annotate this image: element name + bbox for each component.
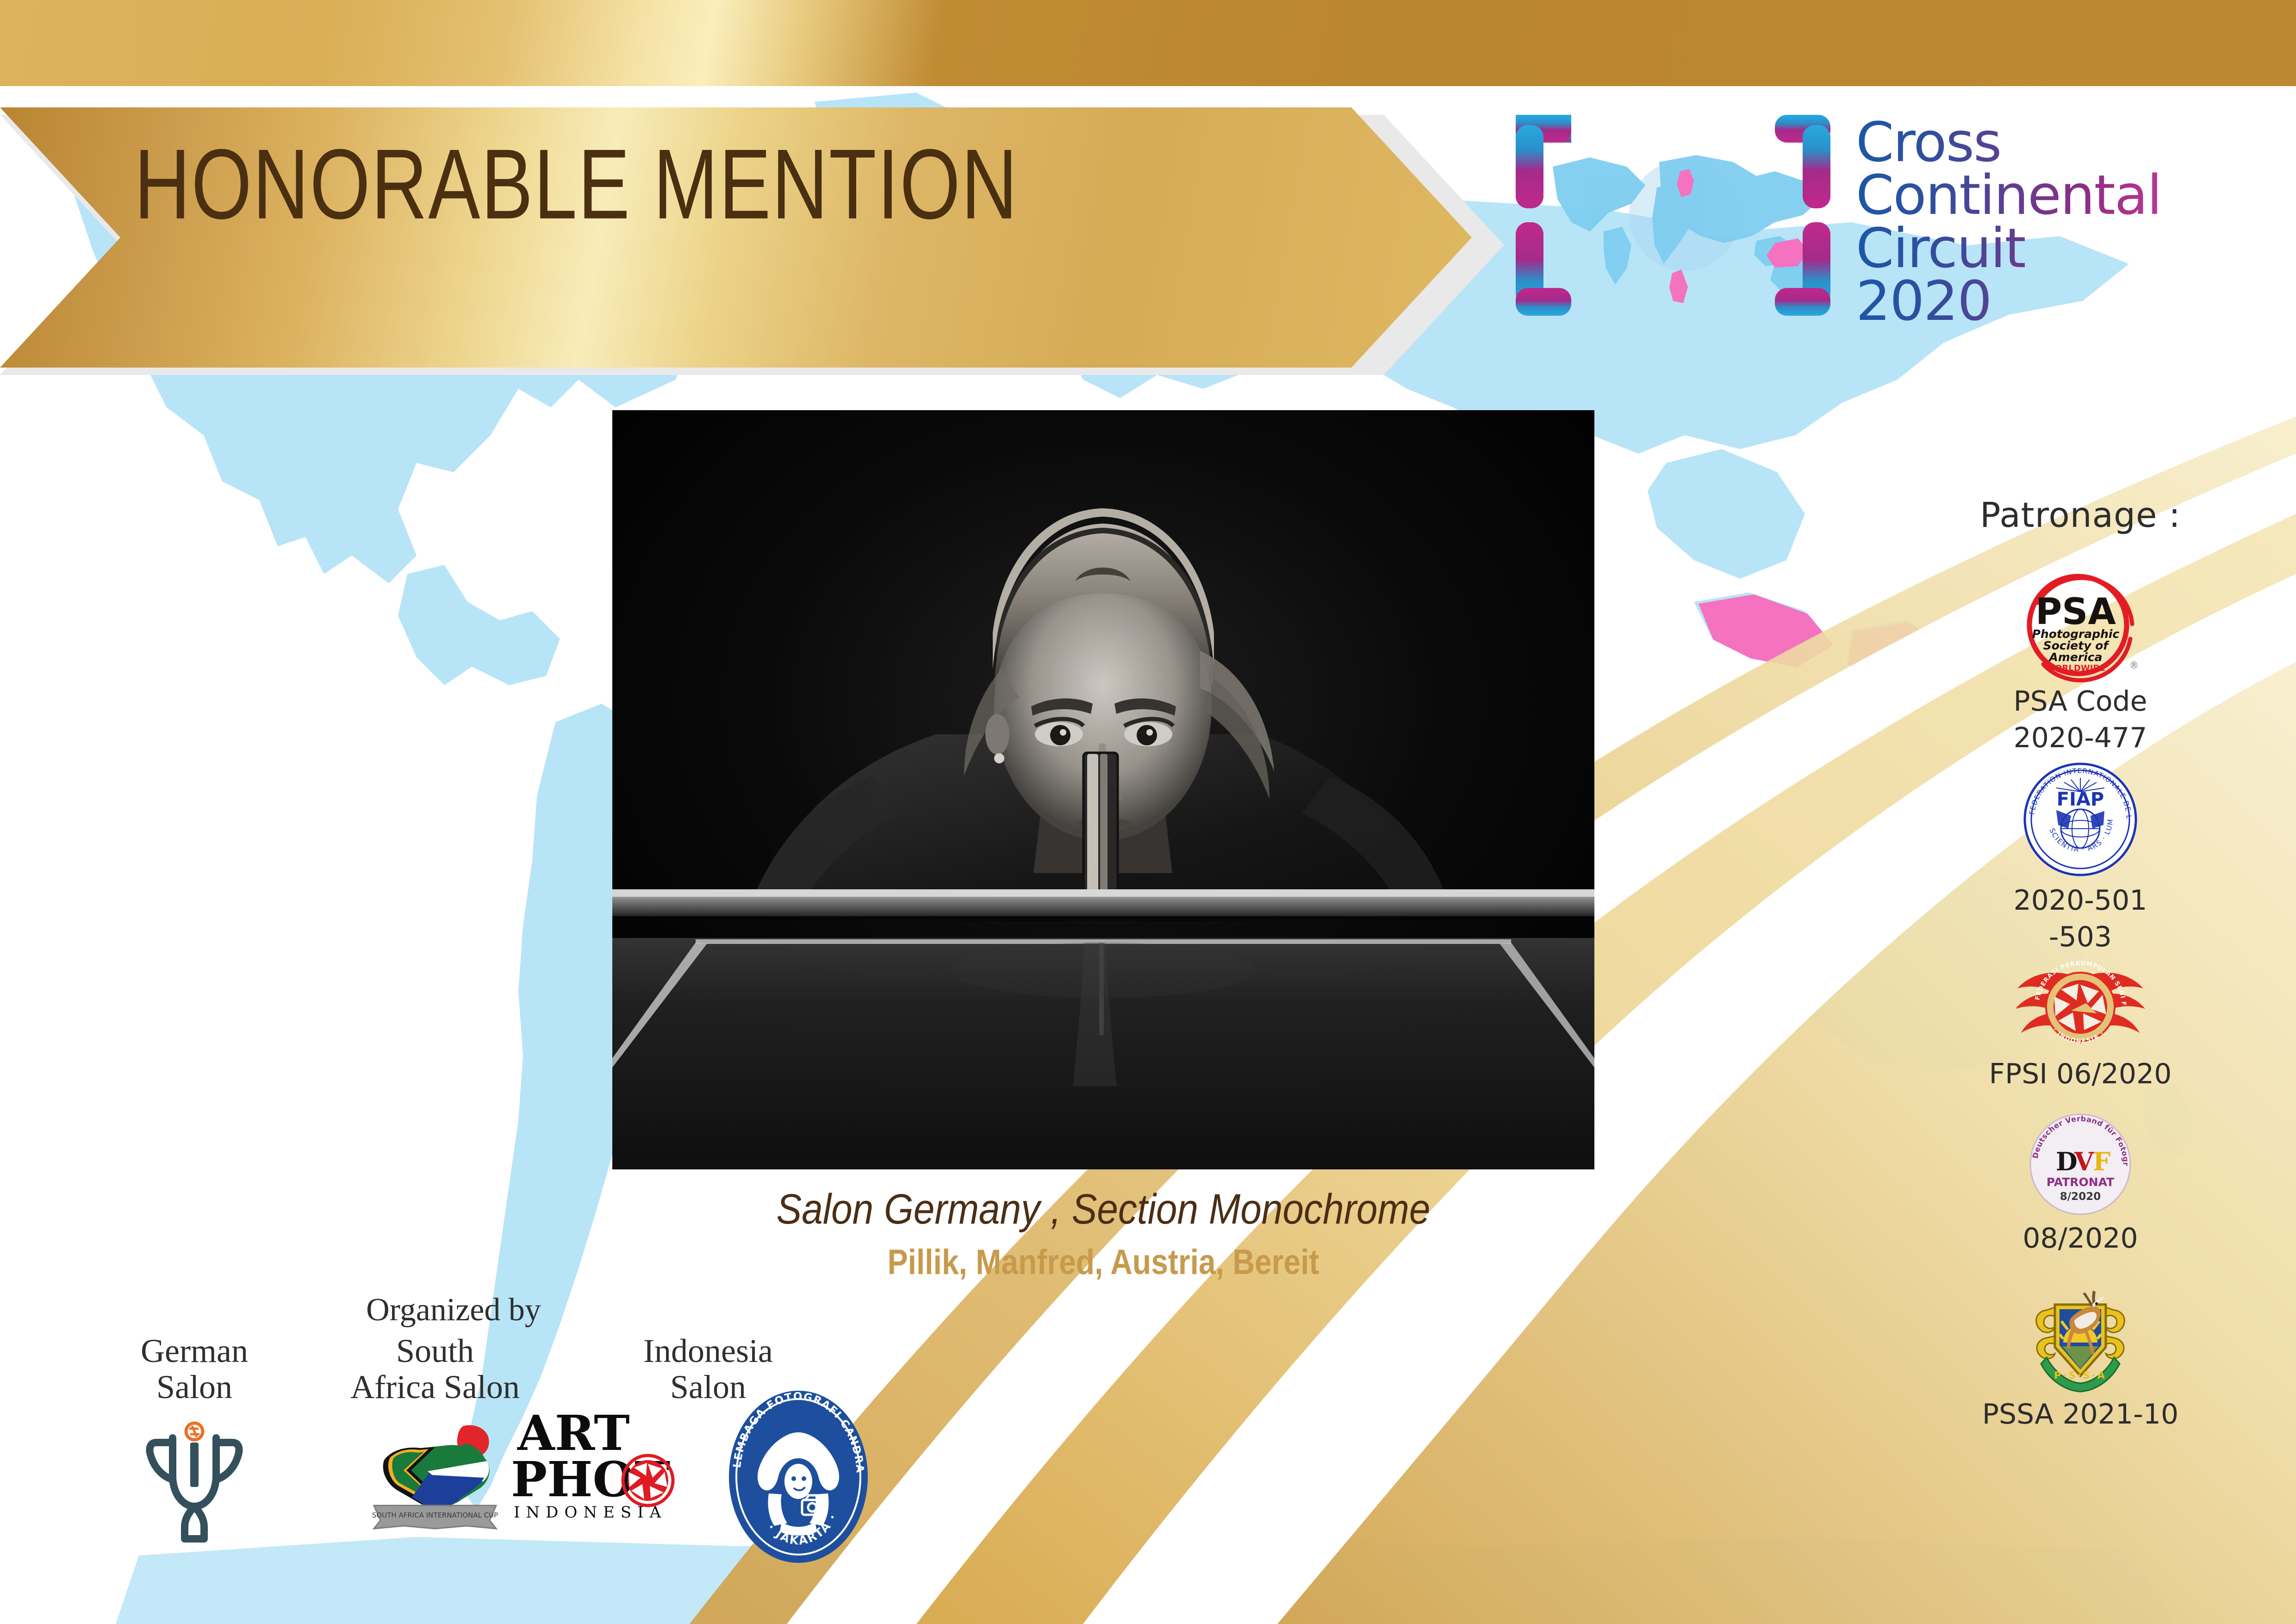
organizer-name-line1: South	[315, 1333, 555, 1369]
cross-continental-circuit-logo-icon	[1497, 106, 1872, 324]
fpsi-code-label: FPSI 06/2020	[1951, 1059, 2210, 1090]
organizer-german-salon: German Salon	[83, 1333, 305, 1548]
svg-text:F: F	[2093, 1147, 2110, 1176]
art-photo-indonesia-logo: ART PHOT INDONESIA	[504, 1398, 699, 1525]
fiap-logo-text: FIAP	[2057, 789, 2104, 810]
logo-line-year: 2020	[1856, 275, 2272, 327]
fiap-code-label: 2020-501	[1951, 885, 2210, 916]
logo-line-circuit: Circuit	[1856, 222, 2272, 275]
svg-text:8/2020: 8/2020	[2060, 1191, 2101, 1203]
awarded-photograph	[612, 410, 1594, 1169]
caption-author: Pillik, Manfred, Austria, Bereit	[612, 1242, 1594, 1282]
organizer-name-line1: Indonesia	[583, 1333, 833, 1369]
patronage-item-psa: PSA Photographic Society of America WORL…	[1951, 569, 2210, 754]
candra-naya-jakarta-logo: LEMBAGA FOTOGRAFI CANDRA NAYA · JAKARTA …	[722, 1384, 875, 1562]
patronage-item-fiap: FEDERATION INTERNATIONALE DE L'ART PHOTO…	[1951, 759, 2210, 953]
patronage-item-dvf: Deutscher Verband für Fotografie e.V. D …	[1951, 1111, 2210, 1254]
svg-text:WORLDWIDE: WORLDWIDE	[2046, 663, 2105, 673]
dvf-seal-icon: Deutscher Verband für Fotografie e.V. D …	[2027, 1111, 2134, 1218]
page-title: HONORABLE MENTION	[134, 134, 1018, 234]
artphoto-aperture-icon	[623, 1455, 673, 1505]
svg-text:PATRONAT: PATRONAT	[2047, 1175, 2114, 1189]
psa-code-value: 2020-477	[1951, 723, 2210, 754]
svg-text:®: ®	[2129, 660, 2139, 671]
logo-line-continental: Continental	[1856, 169, 2272, 221]
psa-logo-text: PSA	[2035, 591, 2116, 633]
caption-salon-section: Salon Germany , Section Monochrome	[612, 1185, 1594, 1234]
certificate-page: HONORABLE MENTION	[0, 0, 2296, 1624]
artphoto-line-indonesia: INDONESIA	[514, 1503, 667, 1522]
patronage-heading: Patronage :	[1951, 495, 2210, 535]
organized-by-heading: Organized by	[287, 1292, 620, 1329]
patronage-item-pssa: P·S·S·A PSSA 2021-10	[1951, 1278, 2210, 1430]
pssa-ribbon-text: P·S·S·A	[2054, 1370, 2107, 1381]
fiap-code-value: -503	[1951, 922, 2210, 953]
logo-line-cross: Cross	[1856, 116, 2272, 169]
dvf-code-label: 08/2020	[1951, 1223, 2210, 1254]
pssa-shield-icon: P·S·S·A	[2022, 1278, 2138, 1393]
south-africa-flag-map-icon: SOUTH AFRICA INTERNATIONAL CUP	[366, 1416, 504, 1531]
fiap-seal-icon: FEDERATION INTERNATIONALE DE L'ART PHOTO…	[2020, 759, 2140, 880]
cross-continental-circuit-wordmark: Cross Continental Circuit 2020	[1856, 116, 2272, 329]
psa-logo-icon: PSA Photographic Society of America WORL…	[2011, 569, 2150, 681]
trophy-aperture-icon	[137, 1416, 252, 1545]
organizer-name-line2: Salon	[83, 1369, 305, 1405]
svg-text:America: America	[2048, 650, 2103, 664]
sa-ribbon-text: SOUTH AFRICA INTERNATIONAL CUP	[372, 1511, 498, 1519]
patronage-item-fpsi: FEDERASI PERKUMPULAN SENI FOTO · INDONES…	[1951, 961, 2210, 1090]
organizer-name-line1: German	[83, 1333, 305, 1369]
psa-code-label: PSA Code	[1951, 686, 2210, 717]
svg-text:V: V	[2074, 1147, 2094, 1176]
pssa-code-label: PSSA 2021-10	[1951, 1399, 2210, 1430]
top-gold-bar	[0, 0, 2296, 86]
fpsi-logo-icon: FEDERASI PERKUMPULAN SENI FOTO · INDONES…	[2006, 961, 2154, 1053]
